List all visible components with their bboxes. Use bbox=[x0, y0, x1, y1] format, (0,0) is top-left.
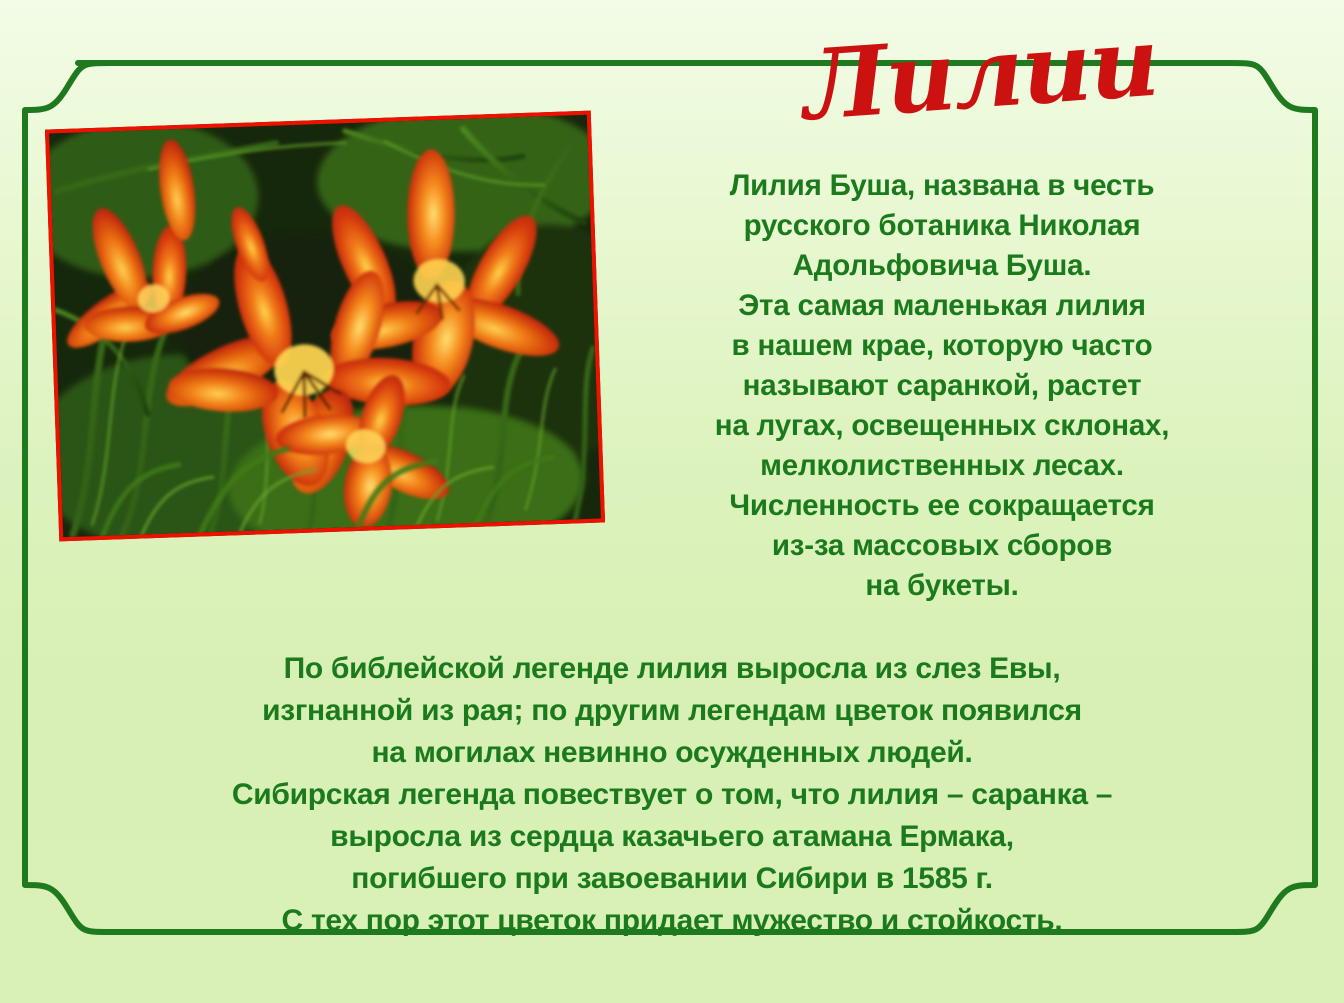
legend-text-bottom: По библейской легенде лилия выросла из с… bbox=[60, 648, 1284, 942]
description-line: называют саранкой, растет bbox=[628, 366, 1256, 406]
legend-line: выросла из сердца казачьего атамана Ерма… bbox=[60, 816, 1284, 858]
description-line: Численность ее сокращается bbox=[628, 486, 1256, 526]
legend-line: По библейской легенде лилия выросла из с… bbox=[60, 648, 1284, 690]
photo-red-border bbox=[45, 111, 605, 542]
poster-canvas: Лилии Лилия Буша, названа в честь русско… bbox=[0, 0, 1344, 1003]
description-line: Эта самая маленькая лилия bbox=[628, 286, 1256, 326]
lily-photo-image bbox=[49, 115, 601, 538]
legend-line: С тех пор этот цветок придает мужество и… bbox=[60, 900, 1284, 942]
lily-photo bbox=[45, 111, 605, 542]
description-line: русского ботаника Николая bbox=[628, 206, 1256, 246]
legend-line: Сибирская легенда повествует о том, что … bbox=[60, 774, 1284, 816]
legend-line: погибшего при завоевании Сибири в 1585 г… bbox=[60, 858, 1284, 900]
description-text-right: Лилия Буша, названа в честь русского бот… bbox=[628, 166, 1256, 606]
legend-line: изгнанной из рая; по другим легендам цве… bbox=[60, 690, 1284, 732]
description-line: в нашем крае, которую часто bbox=[628, 326, 1256, 366]
description-line: на лугах, освещенных склонах, bbox=[628, 406, 1256, 446]
description-line: мелколиственных лесах. bbox=[628, 446, 1256, 486]
legend-line: на могилах невинно осужденных людей. bbox=[60, 732, 1284, 774]
description-line: из-за массовых сборов bbox=[628, 526, 1256, 566]
description-line: Адольфовича Буша. bbox=[628, 246, 1256, 286]
page-title: Лилии bbox=[797, 10, 1163, 139]
description-line: на букеты. bbox=[628, 566, 1256, 606]
description-line: Лилия Буша, названа в честь bbox=[628, 166, 1256, 206]
